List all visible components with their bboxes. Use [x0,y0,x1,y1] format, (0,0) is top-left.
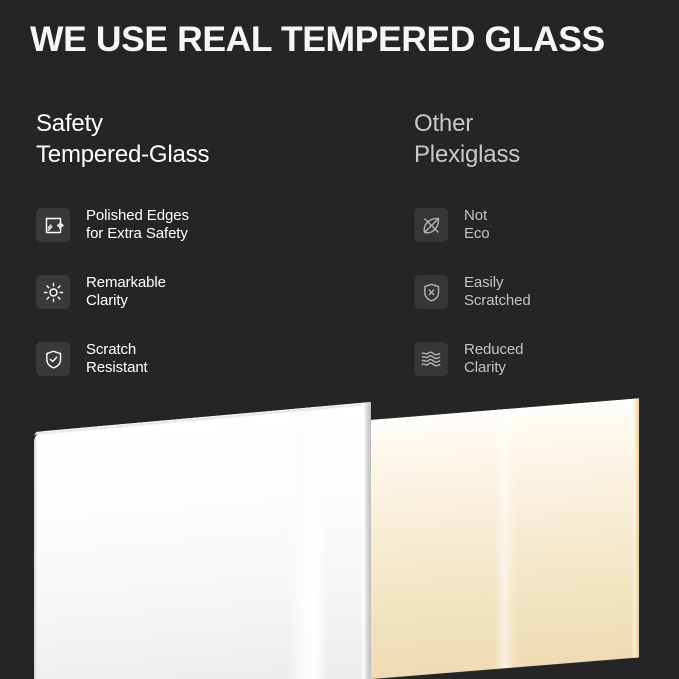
shield-x-icon [414,275,448,309]
feature-remarkable-clarity-line1: Remarkable [86,274,166,291]
feature-reduced-clarity-line1: Reduced [464,341,523,358]
column-title-right: Other Plexiglass [414,108,674,170]
feature-not-eco: Not Eco [414,208,674,242]
feature-remarkable-clarity-label: Remarkable Clarity [86,274,166,311]
product-comparison-photo [0,396,679,679]
feature-reduced-clarity-label: Reduced Clarity [464,341,523,378]
feature-remarkable-clarity: Remarkable Clarity [36,275,366,309]
feature-list-left: Polished Edges for Extra Safety [36,208,366,376]
column-title-left-line2: Tempered-Glass [36,141,209,168]
feature-polished-edges: Polished Edges for Extra Safety [36,208,366,242]
feature-polished-edges-line2: for Extra Safety [86,225,189,244]
leaf-crossed-out-icon [414,208,448,242]
feature-easily-scratched-label: Easily Scratched [464,274,531,311]
feature-easily-scratched: Easily Scratched [414,275,674,309]
column-title-right-line1: Other [414,110,473,137]
feature-polished-edges-line1: Polished Edges [86,207,189,224]
comparison-infographic: WE USE REAL TEMPERED GLASS Safety Temper… [0,0,679,679]
shield-check-icon [36,342,70,376]
page-title: WE USE REAL TEMPERED GLASS [30,18,655,60]
polished-square-sparkle-icon [36,208,70,242]
plexiglass-panel [371,398,639,679]
tempered-glass-panel [34,402,371,679]
sun-brightness-icon [36,275,70,309]
feature-scratch-resistant-line2: Resistant [86,359,148,378]
column-title-left: Safety Tempered-Glass [36,108,366,170]
column-tempered-glass: Safety Tempered-Glass Polished Edges for… [36,108,366,170]
column-plexiglass: Other Plexiglass Not Eco [414,108,674,170]
feature-not-eco-line1: Not [464,207,487,224]
feature-polished-edges-label: Polished Edges for Extra Safety [86,207,189,244]
column-title-left-line1: Safety [36,110,103,137]
feature-reduced-clarity-line2: Clarity [464,359,523,378]
feature-reduced-clarity: Reduced Clarity [414,342,674,376]
feature-remarkable-clarity-line2: Clarity [86,292,166,311]
wavy-lines-icon [414,342,448,376]
feature-easily-scratched-line1: Easily [464,274,503,291]
feature-list-right: Not Eco Easily Scratched [414,208,674,376]
feature-not-eco-line2: Eco [464,225,490,244]
feature-scratch-resistant: Scratch Resistant [36,342,366,376]
column-title-right-line2: Plexiglass [414,141,520,168]
feature-scratch-resistant-label: Scratch Resistant [86,341,148,378]
feature-not-eco-label: Not Eco [464,207,490,244]
feature-easily-scratched-line2: Scratched [464,292,531,311]
feature-scratch-resistant-line1: Scratch [86,341,136,358]
